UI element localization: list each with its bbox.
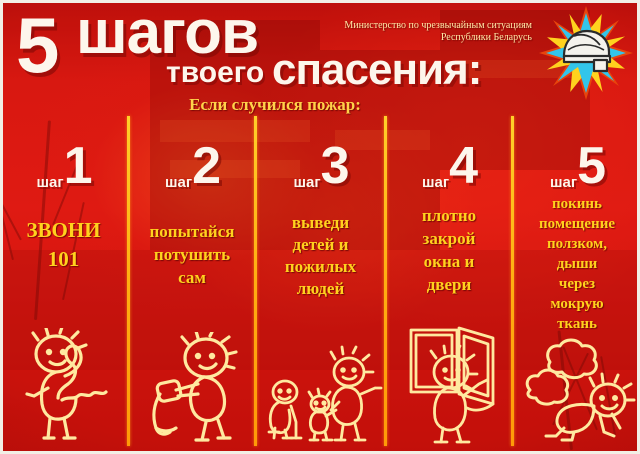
step-text-line: через	[518, 274, 636, 294]
step-text-line: дыши	[518, 254, 636, 274]
step-number-4: 4	[449, 137, 476, 195]
figure-person-with-extinguisher	[144, 332, 248, 444]
step-heading-4: шаг4	[387, 136, 511, 196]
step-text-line: попытайся	[134, 220, 250, 243]
step-text-line: выведи	[261, 212, 380, 234]
step-text-line: двери	[391, 273, 507, 296]
headline-subword: твоего	[166, 58, 264, 88]
steps-container: шаг1 ЗВОНИ 101	[0, 112, 640, 450]
step-text-line: ткань	[518, 314, 636, 334]
step-text-line: покинь	[518, 194, 636, 214]
step-column-3: шаг3 выведи детей и пожилых людей	[257, 112, 384, 450]
step-text-line: плотно	[391, 204, 507, 227]
step-text-4: плотно закрой окна и двери	[391, 204, 507, 296]
step-label-5: шаг	[550, 174, 577, 191]
step-text-5: покинь помещение ползком, дыши через мок…	[518, 194, 636, 334]
fire-safety-poster: 5 шагов твоего спасения: Министерство по…	[0, 0, 640, 454]
step-column-4: шаг4 плотно закрой окна и двери	[387, 112, 511, 450]
figure-person-closing-window	[405, 324, 505, 446]
ministry-line-1: Министерство по чрезвычайным ситуациям	[282, 20, 532, 32]
step-number-2: 2	[192, 137, 219, 195]
step-label-1: шаг	[36, 174, 63, 191]
step-text-line: помещение	[518, 214, 636, 234]
step-number-5: 5	[577, 137, 604, 195]
figure-person-calling-phone	[18, 328, 114, 444]
step-text-line: потушить	[134, 243, 250, 266]
headline-salvation: спасения:	[272, 48, 481, 92]
step-number-3: 3	[321, 137, 348, 195]
ministry-caption: Министерство по чрезвычайным ситуациям Р…	[282, 20, 532, 44]
step-text-line: ползком,	[518, 234, 636, 254]
step-text-1: ЗВОНИ 101	[4, 216, 123, 274]
mchs-star-emblem-icon	[538, 4, 634, 102]
headline-word: шагов	[76, 2, 258, 64]
step-heading-1: шаг1	[0, 136, 127, 196]
step-label-2: шаг	[165, 174, 192, 191]
step-text-line: ЗВОНИ	[4, 216, 123, 245]
step-column-5: шаг5 покинь помещение ползком, дыши чере…	[514, 112, 640, 450]
step-text-line: закрой	[391, 227, 507, 250]
headline-number: 5	[16, 6, 57, 84]
step-text-line: пожилых	[261, 256, 380, 278]
step-text-3: выведи детей и пожилых людей	[261, 212, 380, 300]
step-text-line: детей и	[261, 234, 380, 256]
step-column-2: шаг2 попытайся потушить сам	[130, 112, 254, 450]
step-label-4: шаг	[422, 174, 449, 191]
step-label-3: шаг	[293, 174, 320, 191]
step-text-2: попытайся потушить сам	[134, 220, 250, 289]
step-text-line: сам	[134, 266, 250, 289]
figure-person-crawling-under-smoke	[520, 336, 638, 446]
step-number-1: 1	[64, 137, 91, 195]
step-text-line: окна и	[391, 250, 507, 273]
poster-header: 5 шагов твоего спасения: Министерство по…	[0, 0, 640, 112]
ministry-line-2: Республики Беларусь	[282, 32, 532, 44]
step-heading-2: шаг2	[130, 136, 254, 196]
step-column-1: шаг1 ЗВОНИ 101	[0, 112, 127, 450]
figure-adult-leading-child-and-elder	[263, 344, 383, 444]
step-heading-3: шаг3	[257, 136, 384, 196]
step-text-line: людей	[261, 278, 380, 300]
step-heading-5: шаг5	[514, 136, 640, 196]
step-text-line: 101	[4, 245, 123, 274]
step-text-line: мокрую	[518, 294, 636, 314]
